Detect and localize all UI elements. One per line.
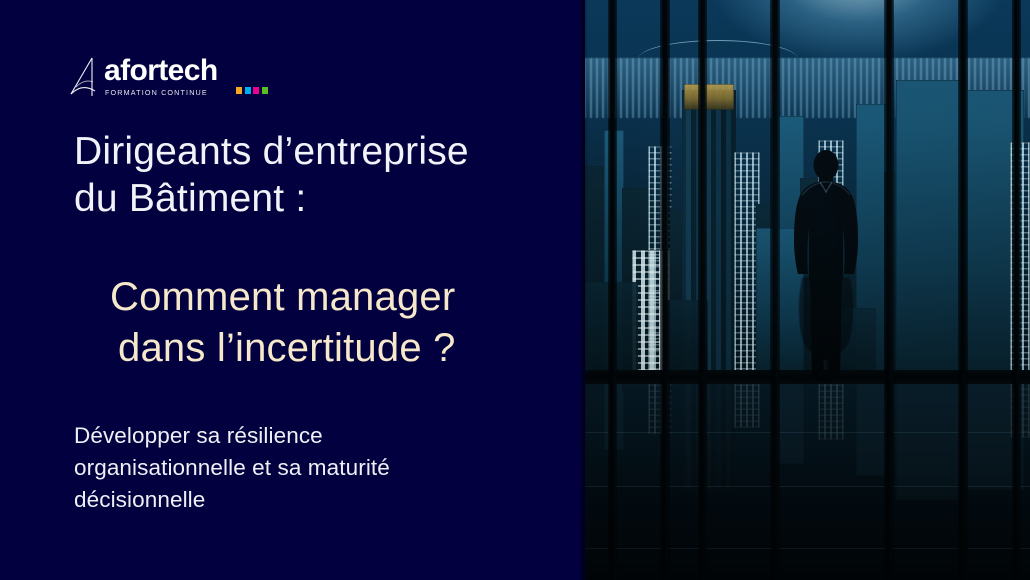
- mullion-6: [958, 0, 968, 580]
- subtitle-line-1: Développer sa résilience: [74, 420, 544, 452]
- brand-tagline: FORMATION CONTINUE: [105, 88, 208, 97]
- left-text-panel: afortech FORMATION CONTINUE Dirigeants d…: [0, 0, 580, 580]
- afortech-a-mark-icon: [68, 56, 104, 98]
- question-heading: Comment manager dans l’incertitude ?: [110, 272, 590, 374]
- slide-root: afortech FORMATION CONTINUE Dirigeants d…: [0, 0, 1030, 580]
- swatch-cyan: [245, 87, 251, 94]
- cityscape-photo: [578, 0, 1030, 580]
- mullion-3: [698, 0, 707, 580]
- title-line-2: du Bâtiment :: [74, 175, 554, 222]
- mullion-2: [660, 0, 670, 580]
- page-title: Dirigeants d’entreprise du Bâtiment :: [74, 128, 554, 222]
- mullion-1: [608, 0, 617, 580]
- mullion-7: [1012, 0, 1021, 580]
- mullion-5: [884, 0, 894, 580]
- brand-logo: afortech FORMATION CONTINUE: [68, 54, 268, 104]
- title-line-1: Dirigeants d’entreprise: [74, 128, 554, 175]
- swatch-green: [262, 87, 268, 94]
- brand-wordmark: afortech: [104, 54, 218, 88]
- subtitle: Développer sa résilience organisationnel…: [74, 420, 544, 516]
- mullion-4: [770, 0, 780, 580]
- lit-rooftop: [684, 84, 734, 110]
- swatch-magenta: [253, 87, 259, 94]
- businessman-silhouette-reflection: [784, 188, 868, 384]
- brand-color-swatches: [236, 87, 268, 94]
- swatch-orange: [236, 87, 242, 94]
- subtitle-line-2: organisationnelle et sa maturité: [74, 452, 544, 484]
- subtitle-line-3: décisionnelle: [74, 484, 544, 516]
- bright-slab-tower-a: [896, 80, 962, 378]
- question-line-2: dans l’incertitude ?: [110, 323, 590, 374]
- question-line-1: Comment manager: [110, 272, 590, 323]
